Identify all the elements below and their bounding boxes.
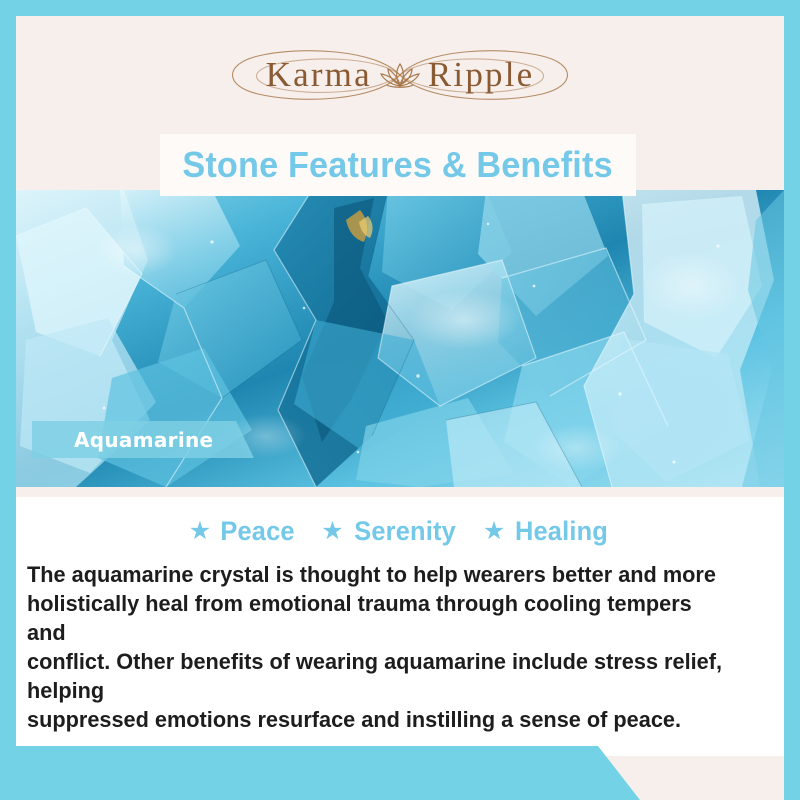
star-icon: ★: [483, 519, 505, 544]
description-line: conflict. Other benefits of wearing aqua…: [27, 647, 736, 705]
keyword-item: ★ Peace: [189, 516, 298, 547]
logo-word-ripple: Ripple: [428, 55, 535, 95]
frame-border-top: [0, 0, 800, 16]
description-text: The aquamarine crystal is thought to hel…: [27, 560, 736, 734]
description-line: The aquamarine crystal is thought to hel…: [27, 560, 736, 589]
keyword-label: Healing: [515, 516, 608, 547]
keyword-item: ★ Healing: [483, 516, 611, 547]
lotus-icon: [377, 58, 423, 92]
poster-canvas: Karma Ripple Stone Features & Benefits: [0, 0, 800, 800]
title-band: Stone Features & Benefits: [160, 134, 636, 196]
frame-border-right: [784, 0, 800, 800]
star-icon: ★: [189, 519, 211, 544]
stone-name-tag: Aquamarine: [32, 421, 254, 458]
hero-crystal-photo: Aquamarine: [16, 190, 784, 487]
keyword-label: Peace: [221, 516, 295, 547]
stone-name-label: Aquamarine: [32, 428, 213, 452]
keyword-row: ★ Peace ★ Serenity ★ Healing: [0, 509, 800, 553]
frame-bottom-bar: [0, 746, 640, 800]
star-icon: ★: [321, 519, 343, 544]
frame-border-left: [0, 0, 16, 800]
brand-logo: Karma Ripple: [0, 36, 800, 114]
keyword-item: ★ Serenity: [321, 516, 459, 547]
panel-top-strip: [16, 487, 784, 497]
logo-word-karma: Karma: [266, 55, 372, 95]
page-title: Stone Features & Benefits: [183, 144, 613, 186]
keyword-label: Serenity: [354, 516, 456, 547]
description-line: holistically heal from emotional trauma …: [27, 589, 736, 647]
description-line: suppressed emotions resurface and instil…: [27, 705, 736, 734]
